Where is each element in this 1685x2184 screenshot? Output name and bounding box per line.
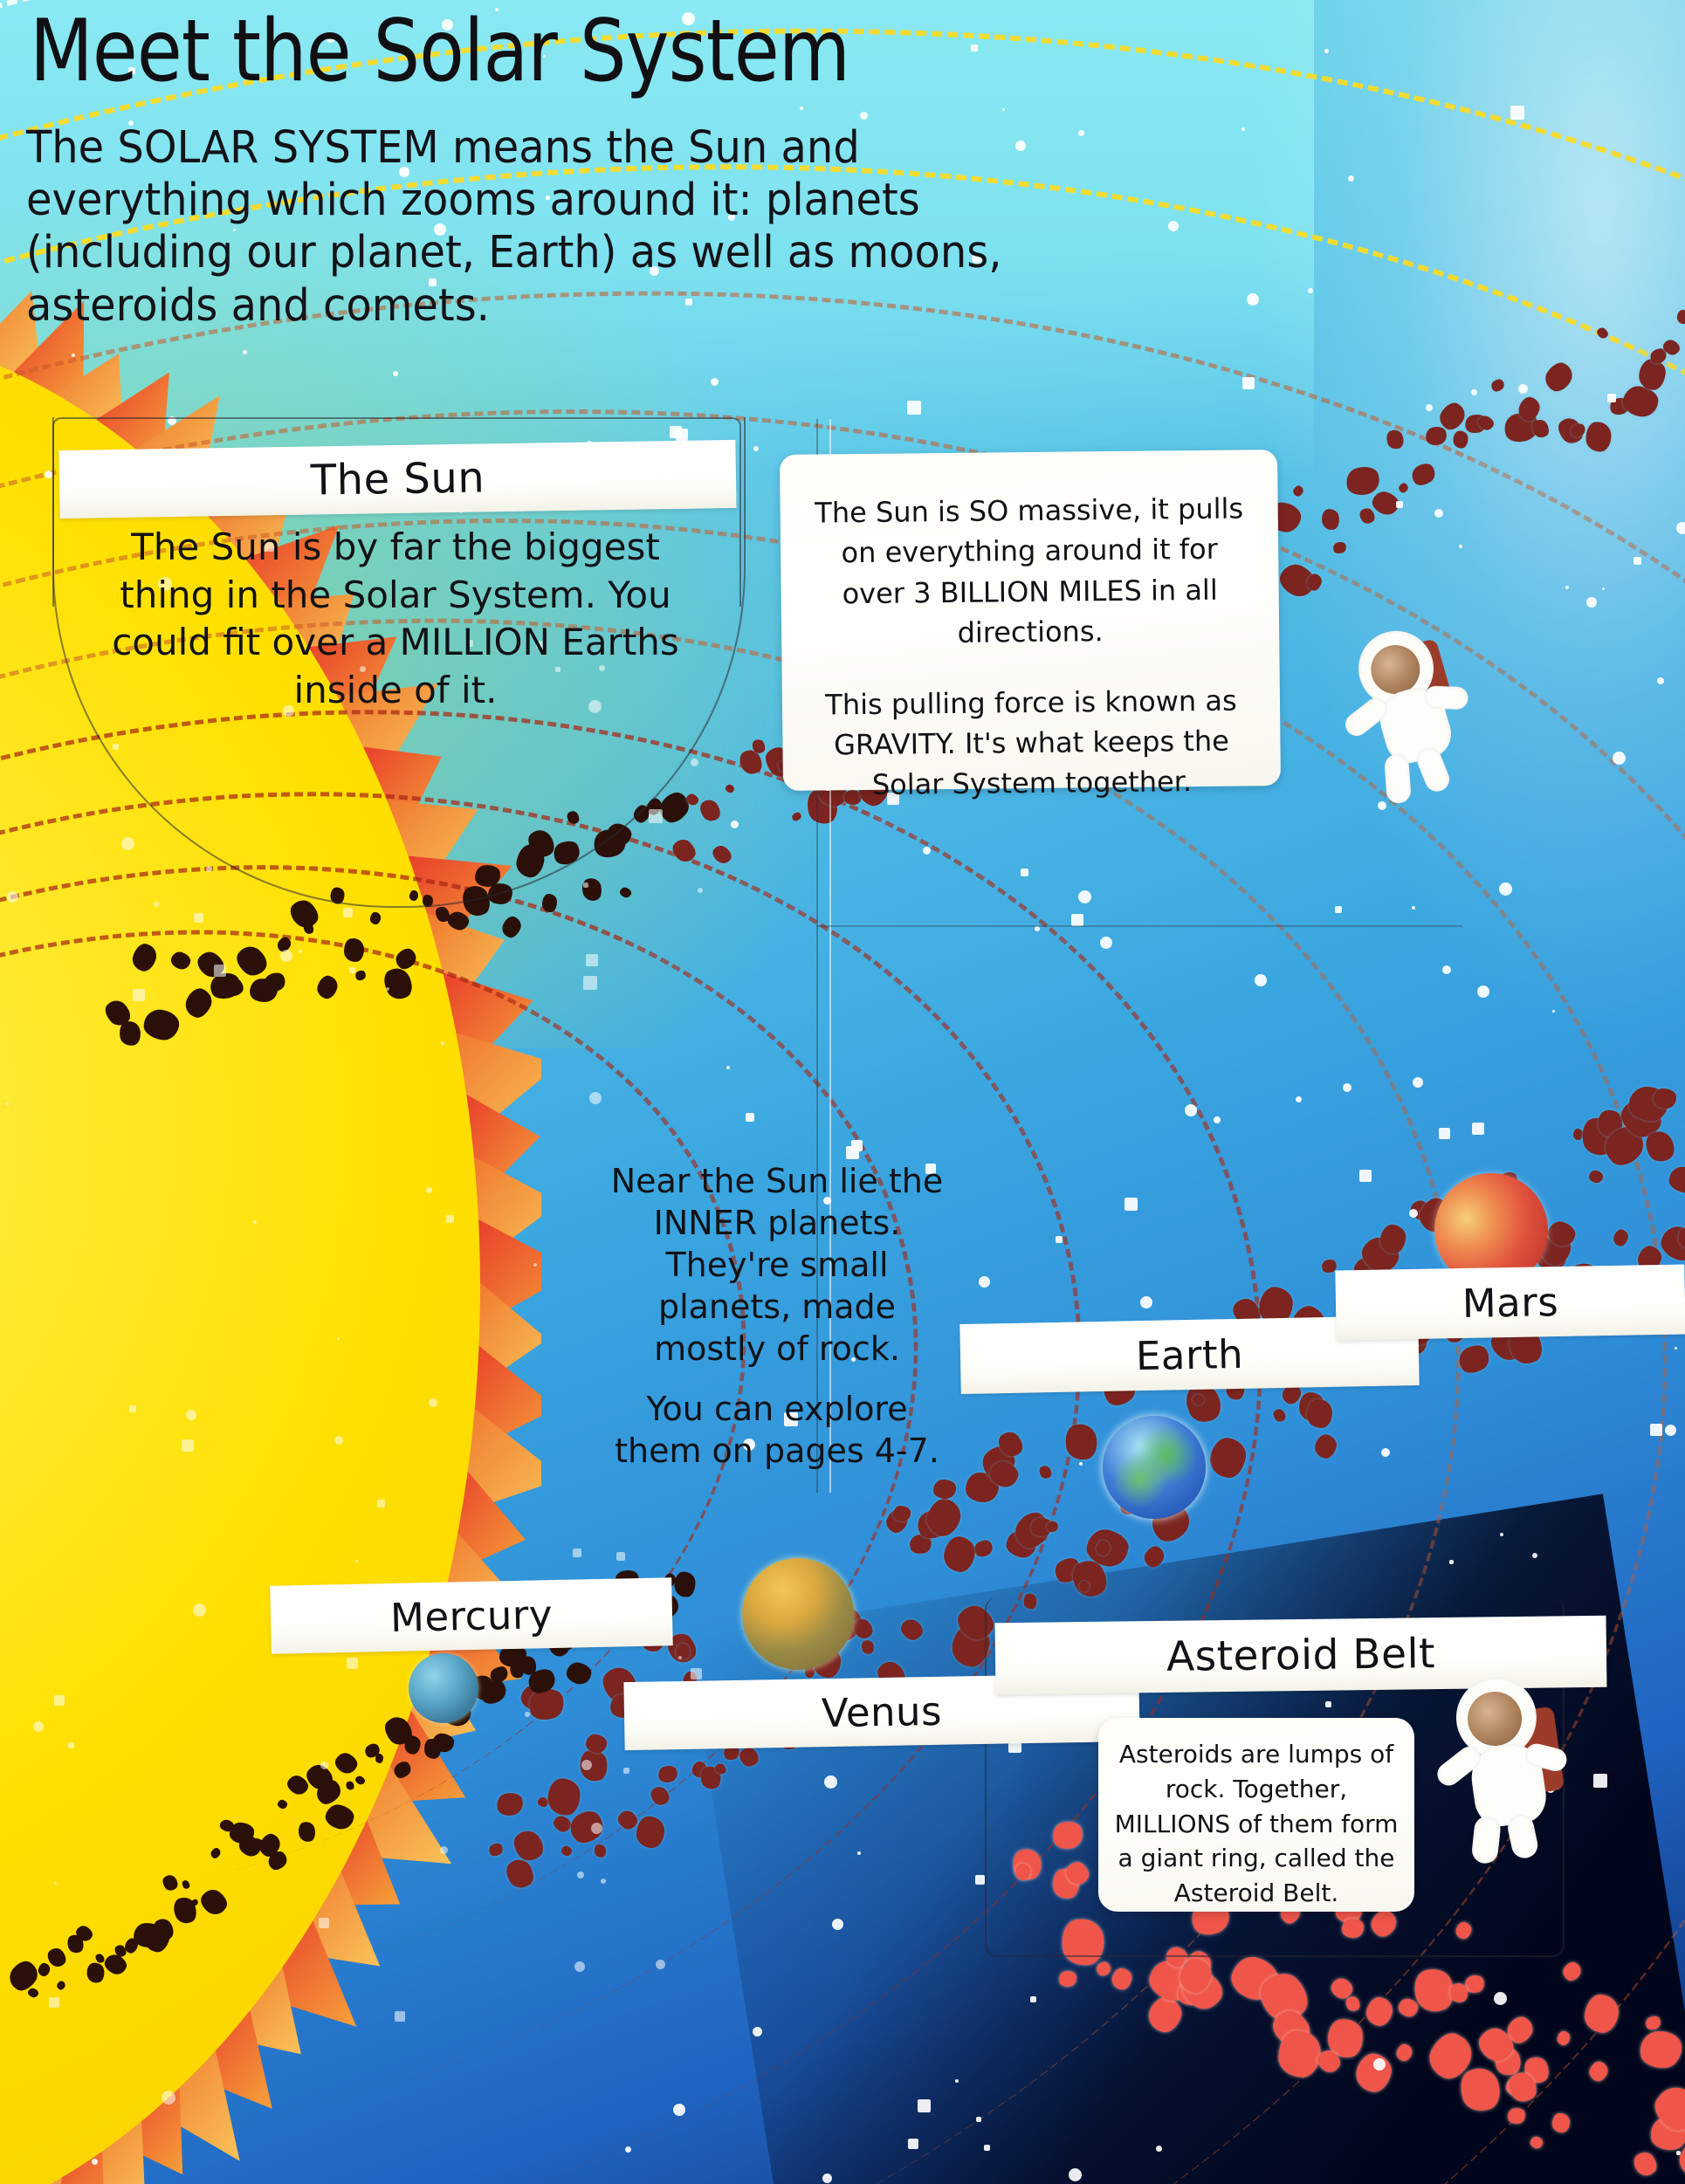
star-speck	[753, 446, 759, 451]
star-speck	[746, 1113, 754, 1122]
star-speck	[1335, 906, 1342, 913]
star-speck	[320, 1762, 328, 1769]
star-speck	[1100, 937, 1112, 949]
inner-planets-paragraph-gap	[602, 1370, 952, 1389]
star-speck	[1676, 2151, 1681, 2155]
star-speck	[440, 1846, 448, 1854]
star-speck	[1308, 288, 1313, 293]
label-band-mercury[interactable]: Mercury	[270, 1577, 673, 1654]
star-speck	[908, 2139, 918, 2149]
star-speck	[1500, 1533, 1503, 1536]
star-speck	[129, 1405, 136, 1412]
star-speck	[280, 950, 292, 962]
star-speck	[918, 2099, 931, 2112]
star-speck	[1030, 1996, 1036, 2002]
star-speck	[753, 2027, 762, 2036]
star-speck	[214, 965, 226, 977]
star-speck	[1518, 384, 1528, 394]
star-speck	[1472, 1123, 1484, 1135]
star-speck	[386, 987, 389, 991]
star-speck	[6, 1102, 9, 1105]
star-speck	[429, 1398, 437, 1407]
star-speck	[1494, 1992, 1507, 2005]
star-speck	[33, 1721, 44, 1732]
star-speck	[1665, 1425, 1676, 1436]
asteroid	[547, 1778, 581, 1816]
star-speck	[583, 883, 588, 888]
asteroid-belt-body: Asteroids are lumps of rock. Together, M…	[1115, 1740, 1399, 1907]
inner-planets-text-block: Near the Sun lie the INNER planets. They…	[602, 1161, 952, 1473]
star-speck	[1593, 1774, 1607, 1788]
asteroid	[933, 1480, 956, 1499]
star-speck	[1247, 293, 1259, 306]
page-intro-text: The SOLAR SYSTEM means the Sun and every…	[26, 122, 1028, 333]
star-speck	[1471, 389, 1477, 395]
star-speck	[586, 954, 598, 966]
star-speck	[832, 1919, 843, 1930]
star-speck	[393, 371, 398, 376]
star-speck	[573, 1549, 581, 1557]
star-speck	[1071, 914, 1083, 926]
inner-planets-paragraph-1: Near the Sun lie the INNER planets. They…	[611, 1162, 944, 1368]
flap-fold-line-horizontal	[816, 925, 1462, 927]
solar-system-book-page: Meet the Solar System The SOLAR SYSTEM m…	[0, 0, 1685, 2184]
star-speck	[673, 2104, 685, 2116]
star-speck	[1413, 1077, 1423, 1088]
star-speck	[691, 1668, 702, 1679]
asteroid	[1015, 1864, 1030, 1880]
star-speck	[979, 1276, 990, 1288]
star-speck	[1214, 1116, 1221, 1123]
star-speck	[1021, 869, 1028, 876]
asteroid	[1454, 431, 1468, 449]
star-speck	[800, 106, 803, 110]
star-speck	[1056, 1236, 1063, 1243]
star-speck	[7, 891, 18, 903]
star-speck	[182, 1439, 194, 1452]
star-speck	[589, 1092, 602, 1104]
star-speck	[441, 1041, 444, 1045]
star-speck	[154, 902, 159, 907]
star-speck	[1324, 49, 1329, 53]
star-speck	[860, 112, 868, 120]
star-speck	[1602, 587, 1605, 590]
star-speck	[711, 378, 719, 386]
star-speck	[577, 1872, 584, 1878]
star-speck	[975, 1875, 985, 1885]
star-speck	[923, 847, 931, 855]
star-speck	[574, 1961, 585, 1972]
star-speck	[601, 1878, 606, 1884]
star-speck	[656, 1960, 665, 1969]
asteroid-belt-callout-card[interactable]: Asteroids are lumps of rock. Together, M…	[1098, 1718, 1414, 1912]
star-speck	[1675, 1347, 1677, 1350]
planet-label-mercury: Mercury	[389, 1591, 553, 1641]
star-speck	[1002, 108, 1005, 111]
star-speck	[1343, 1083, 1351, 1092]
star-speck	[54, 1695, 65, 1706]
star-speck	[334, 1436, 343, 1445]
star-speck	[299, 950, 302, 953]
star-speck	[1409, 1209, 1418, 1218]
star-speck	[1477, 986, 1489, 998]
star-speck	[591, 1823, 602, 1834]
star-speck	[1078, 130, 1084, 136]
star-speck	[253, 1220, 257, 1224]
star-speck	[1552, 1010, 1555, 1013]
star-speck	[1439, 1128, 1450, 1139]
star-speck	[525, 1712, 530, 1717]
star-speck	[92, 2159, 98, 2165]
star-speck	[347, 1658, 358, 1669]
star-speck	[1532, 1553, 1537, 1558]
star-speck	[1255, 974, 1267, 986]
star-speck	[1325, 1701, 1331, 1707]
star-speck	[1168, 221, 1179, 231]
label-band-mars[interactable]: Mars	[1335, 1265, 1685, 1341]
asteroid	[1585, 422, 1612, 452]
star-speck	[1296, 1096, 1302, 1102]
star-speck	[581, 1760, 592, 1770]
planet-label-earth: Earth	[1135, 1330, 1243, 1378]
star-speck	[691, 759, 698, 766]
astronaut-leg-left	[1471, 1815, 1502, 1865]
star-speck	[133, 989, 145, 1001]
star-speck	[1378, 801, 1386, 810]
asteroid	[1677, 310, 1685, 324]
star-speck	[319, 1918, 329, 1928]
star-speck	[851, 1140, 863, 1151]
star-speck	[54, 1882, 57, 1885]
star-speck	[1676, 522, 1685, 534]
star-speck	[1650, 1424, 1662, 1436]
planet-label-venus: Venus	[822, 1687, 943, 1735]
star-speck	[395, 2011, 405, 2022]
star-speck	[349, 967, 355, 973]
star-speck	[446, 1215, 454, 1223]
planet-label-mars: Mars	[1461, 1279, 1558, 1327]
star-speck	[72, 354, 75, 357]
star-speck	[1412, 906, 1415, 910]
star-speck	[337, 1337, 340, 1340]
star-speck	[955, 2079, 959, 2083]
gravity-paragraph-2: This pulling force is known as GRAVITY. …	[825, 683, 1237, 801]
star-speck	[676, 429, 688, 441]
asteroid	[674, 1571, 696, 1597]
star-speck	[649, 809, 663, 823]
star-speck	[1348, 175, 1354, 182]
star-speck	[45, 470, 52, 478]
star-speck	[1459, 545, 1462, 548]
star-speck	[1241, 127, 1245, 131]
star-speck	[1124, 1198, 1138, 1211]
star-speck	[186, 1410, 196, 1420]
star-speck	[726, 1066, 730, 1069]
star-speck	[1242, 377, 1255, 389]
star-speck	[1565, 586, 1569, 589]
star-speck	[1434, 509, 1443, 518]
star-speck	[343, 908, 353, 917]
sun-panel-label: The Sun	[310, 453, 485, 505]
star-speck	[1657, 677, 1664, 684]
star-speck	[976, 2117, 981, 2122]
star-speck	[731, 821, 739, 828]
star-speck	[1442, 965, 1451, 974]
star-speck	[824, 1775, 837, 1789]
star-speck	[68, 1742, 74, 1748]
star-speck	[984, 2145, 990, 2151]
gravity-paragraph-gap	[808, 650, 1253, 684]
star-speck	[355, 1560, 358, 1562]
gravity-paragraph-1: The Sun is SO massive, it pulls on every…	[815, 491, 1243, 649]
star-speck	[678, 1656, 682, 1659]
star-speck	[121, 837, 134, 850]
star-speck	[1613, 752, 1626, 765]
star-speck	[193, 1604, 206, 1617]
star-speck	[533, 1263, 537, 1267]
star-speck	[1156, 2146, 1162, 2152]
star-speck	[1079, 1462, 1083, 1466]
sun-panel-body: The Sun is by far the biggest thing in t…	[112, 524, 679, 714]
asteroid	[331, 888, 345, 904]
asteroid-belt-label: Asteroid Belt	[1166, 1630, 1436, 1681]
star-speck	[1069, 2168, 1082, 2181]
star-speck	[907, 401, 921, 415]
star-speck	[616, 1552, 625, 1561]
label-band-the-sun[interactable]: The Sun	[58, 440, 736, 519]
star-speck	[1078, 890, 1091, 903]
sky-highlight-glow	[1247, 0, 1685, 1048]
star-speck	[1510, 106, 1524, 120]
star-speck	[168, 416, 176, 425]
planet-venus	[742, 1558, 854, 1670]
star-speck	[698, 888, 703, 893]
star-speck	[1381, 1448, 1390, 1457]
planet-earth	[1103, 1416, 1206, 1519]
star-speck	[1449, 1560, 1454, 1564]
star-speck	[1499, 883, 1512, 896]
star-speck	[162, 2091, 175, 2105]
star-speck	[1633, 557, 1641, 565]
star-speck	[625, 2146, 631, 2153]
star-speck	[49, 1997, 59, 2008]
star-speck	[1373, 2058, 1386, 2071]
star-speck	[243, 350, 247, 354]
star-speck	[1426, 404, 1433, 411]
star-speck	[113, 744, 119, 750]
gravity-callout-card[interactable]: The Sun is SO massive, it pulls on every…	[780, 450, 1281, 791]
star-speck	[426, 1187, 432, 1193]
asteroid	[1552, 2113, 1570, 2132]
astronaut-lower	[1433, 1659, 1588, 1864]
star-speck	[194, 913, 203, 923]
star-speck	[206, 866, 212, 872]
star-speck	[1586, 597, 1597, 608]
star-speck	[623, 1768, 629, 1774]
star-speck	[1185, 1104, 1197, 1116]
inner-planets-paragraph-2: You can explore them on pages 4-7.	[615, 1390, 939, 1470]
star-speck	[1607, 394, 1616, 402]
astronaut-arm-right	[1424, 685, 1468, 710]
star-speck	[1359, 1170, 1372, 1182]
star-speck	[1140, 1296, 1152, 1308]
star-speck	[583, 976, 597, 990]
star-speck	[377, 1500, 385, 1508]
star-speck	[822, 2174, 832, 2183]
star-speck	[1396, 501, 1403, 508]
star-speck	[857, 1851, 861, 1855]
astronaut-leg-left	[1384, 753, 1412, 804]
page-title: Meet the Solar System	[30, 9, 1066, 94]
planet-mercury	[409, 1653, 478, 1723]
